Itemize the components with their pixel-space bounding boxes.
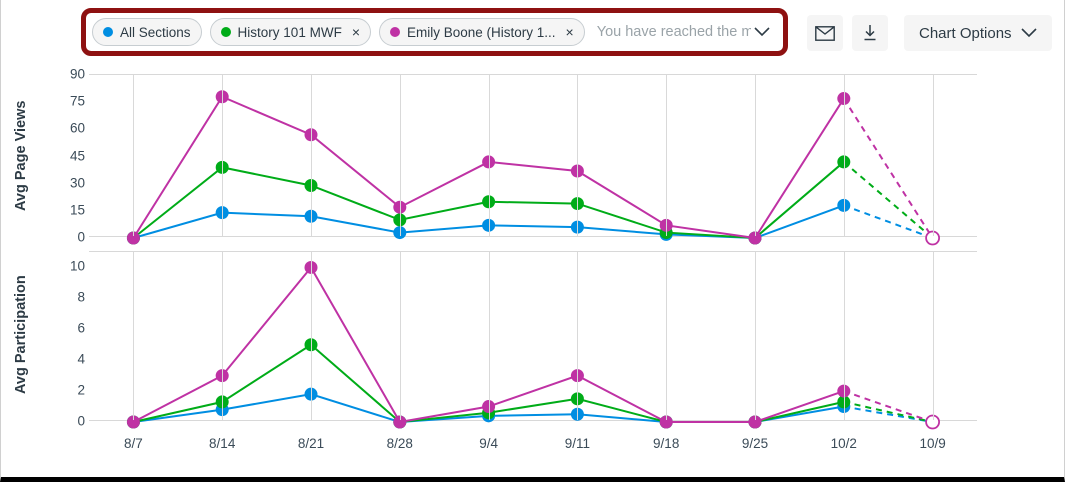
chevron-down-icon[interactable] bbox=[751, 27, 773, 37]
y-axis-tick-label: 10 bbox=[39, 259, 85, 274]
message-icon bbox=[815, 26, 835, 41]
gridline bbox=[489, 252, 490, 420]
plot-area bbox=[89, 74, 977, 237]
filter-combobox[interactable]: All Sections History 101 MWF × Emily Boo… bbox=[86, 13, 783, 51]
y-axis-title: Avg Page Views bbox=[13, 82, 37, 230]
filter-pill-all-sections[interactable]: All Sections bbox=[92, 18, 202, 46]
gridline bbox=[489, 75, 490, 236]
filter-pill-label: Emily Boone (History 1... bbox=[407, 25, 556, 40]
filter-pill-label: History 101 MWF bbox=[238, 25, 342, 40]
gridline bbox=[577, 252, 578, 420]
gridline bbox=[755, 75, 756, 236]
chart-options-button[interactable]: Chart Options bbox=[904, 15, 1052, 51]
chevron-down-icon bbox=[1021, 28, 1037, 38]
y-axis-tick-label: 60 bbox=[39, 121, 85, 136]
x-axis-labels: 8/78/148/218/289/49/119/189/2510/210/9 bbox=[89, 430, 977, 460]
x-axis-tick-label: 9/25 bbox=[742, 436, 768, 451]
gridline bbox=[755, 252, 756, 420]
filter-highlight-box: All Sections History 101 MWF × Emily Boo… bbox=[81, 8, 788, 56]
x-axis-tick-label: 9/11 bbox=[565, 436, 590, 451]
y-axis-tick-label: 8 bbox=[39, 290, 85, 305]
series-color-dot bbox=[221, 27, 231, 37]
gridline bbox=[311, 252, 312, 420]
message-students-button[interactable] bbox=[807, 15, 843, 51]
x-axis-tick-label: 8/21 bbox=[298, 436, 324, 451]
gridline bbox=[666, 75, 667, 236]
series-color-dot bbox=[390, 27, 400, 37]
chart-panel-avg-participation: Avg Participation 0246810 bbox=[1, 243, 1065, 428]
gridline bbox=[933, 75, 934, 236]
gridline bbox=[133, 252, 134, 420]
y-axis-tick-label: 2 bbox=[39, 383, 85, 398]
y-axis-ticks: 0246810 bbox=[39, 243, 85, 428]
y-axis-tick-label: 90 bbox=[39, 67, 85, 82]
gridline bbox=[311, 75, 312, 236]
y-axis-tick-label: 15 bbox=[39, 202, 85, 217]
y-axis-ticks: 0153045607590 bbox=[39, 68, 85, 243]
plot-area bbox=[89, 251, 977, 421]
series-color-dot bbox=[103, 27, 113, 37]
gridline bbox=[222, 252, 223, 420]
x-axis-tick-label: 10/2 bbox=[831, 436, 857, 451]
charts-container: Avg Page Views 0153045607590 Avg Partici… bbox=[1, 68, 1065, 477]
filter-pill-history-101[interactable]: History 101 MWF × bbox=[210, 18, 371, 46]
y-axis-title: Avg Participation bbox=[13, 259, 37, 411]
y-axis-tick-label: 6 bbox=[39, 321, 85, 336]
y-axis-tick-label: 45 bbox=[39, 148, 85, 163]
chart-options-label: Chart Options bbox=[919, 25, 1012, 42]
x-axis-tick-label: 8/28 bbox=[387, 436, 413, 451]
x-axis-tick-label: 9/18 bbox=[653, 436, 679, 451]
x-axis-tick-label: 8/7 bbox=[124, 436, 143, 451]
filter-input-placeholder[interactable]: You have reached the ma bbox=[593, 24, 751, 40]
close-icon[interactable]: × bbox=[566, 25, 574, 39]
gridline bbox=[577, 75, 578, 236]
gridline bbox=[844, 75, 845, 236]
chart-toolbar: All Sections History 101 MWF × Emily Boo… bbox=[1, 0, 1065, 68]
y-axis-tick-label: 30 bbox=[39, 175, 85, 190]
x-axis-tick-label: 9/4 bbox=[479, 436, 498, 451]
download-csv-button[interactable] bbox=[852, 15, 888, 51]
x-axis-tick-label: 8/14 bbox=[209, 436, 235, 451]
close-icon[interactable]: × bbox=[352, 25, 360, 39]
gridline bbox=[400, 75, 401, 236]
filter-pill-emily-boone[interactable]: Emily Boone (History 1... × bbox=[379, 18, 585, 46]
gridline bbox=[133, 75, 134, 236]
gridline bbox=[666, 252, 667, 420]
gridline bbox=[933, 252, 934, 420]
chart-page: All Sections History 101 MWF × Emily Boo… bbox=[0, 0, 1065, 482]
x-axis-tick-label: 10/9 bbox=[919, 436, 945, 451]
filter-pill-label: All Sections bbox=[120, 25, 191, 40]
y-axis-tick-label: 75 bbox=[39, 94, 85, 109]
gridline bbox=[844, 252, 845, 420]
y-axis-tick-label: 0 bbox=[39, 414, 85, 429]
gridline bbox=[400, 252, 401, 420]
download-icon bbox=[861, 24, 879, 42]
y-axis-tick-label: 4 bbox=[39, 352, 85, 367]
chart-panel-avg-page-views: Avg Page Views 0153045607590 bbox=[1, 68, 1065, 243]
gridline bbox=[222, 75, 223, 236]
